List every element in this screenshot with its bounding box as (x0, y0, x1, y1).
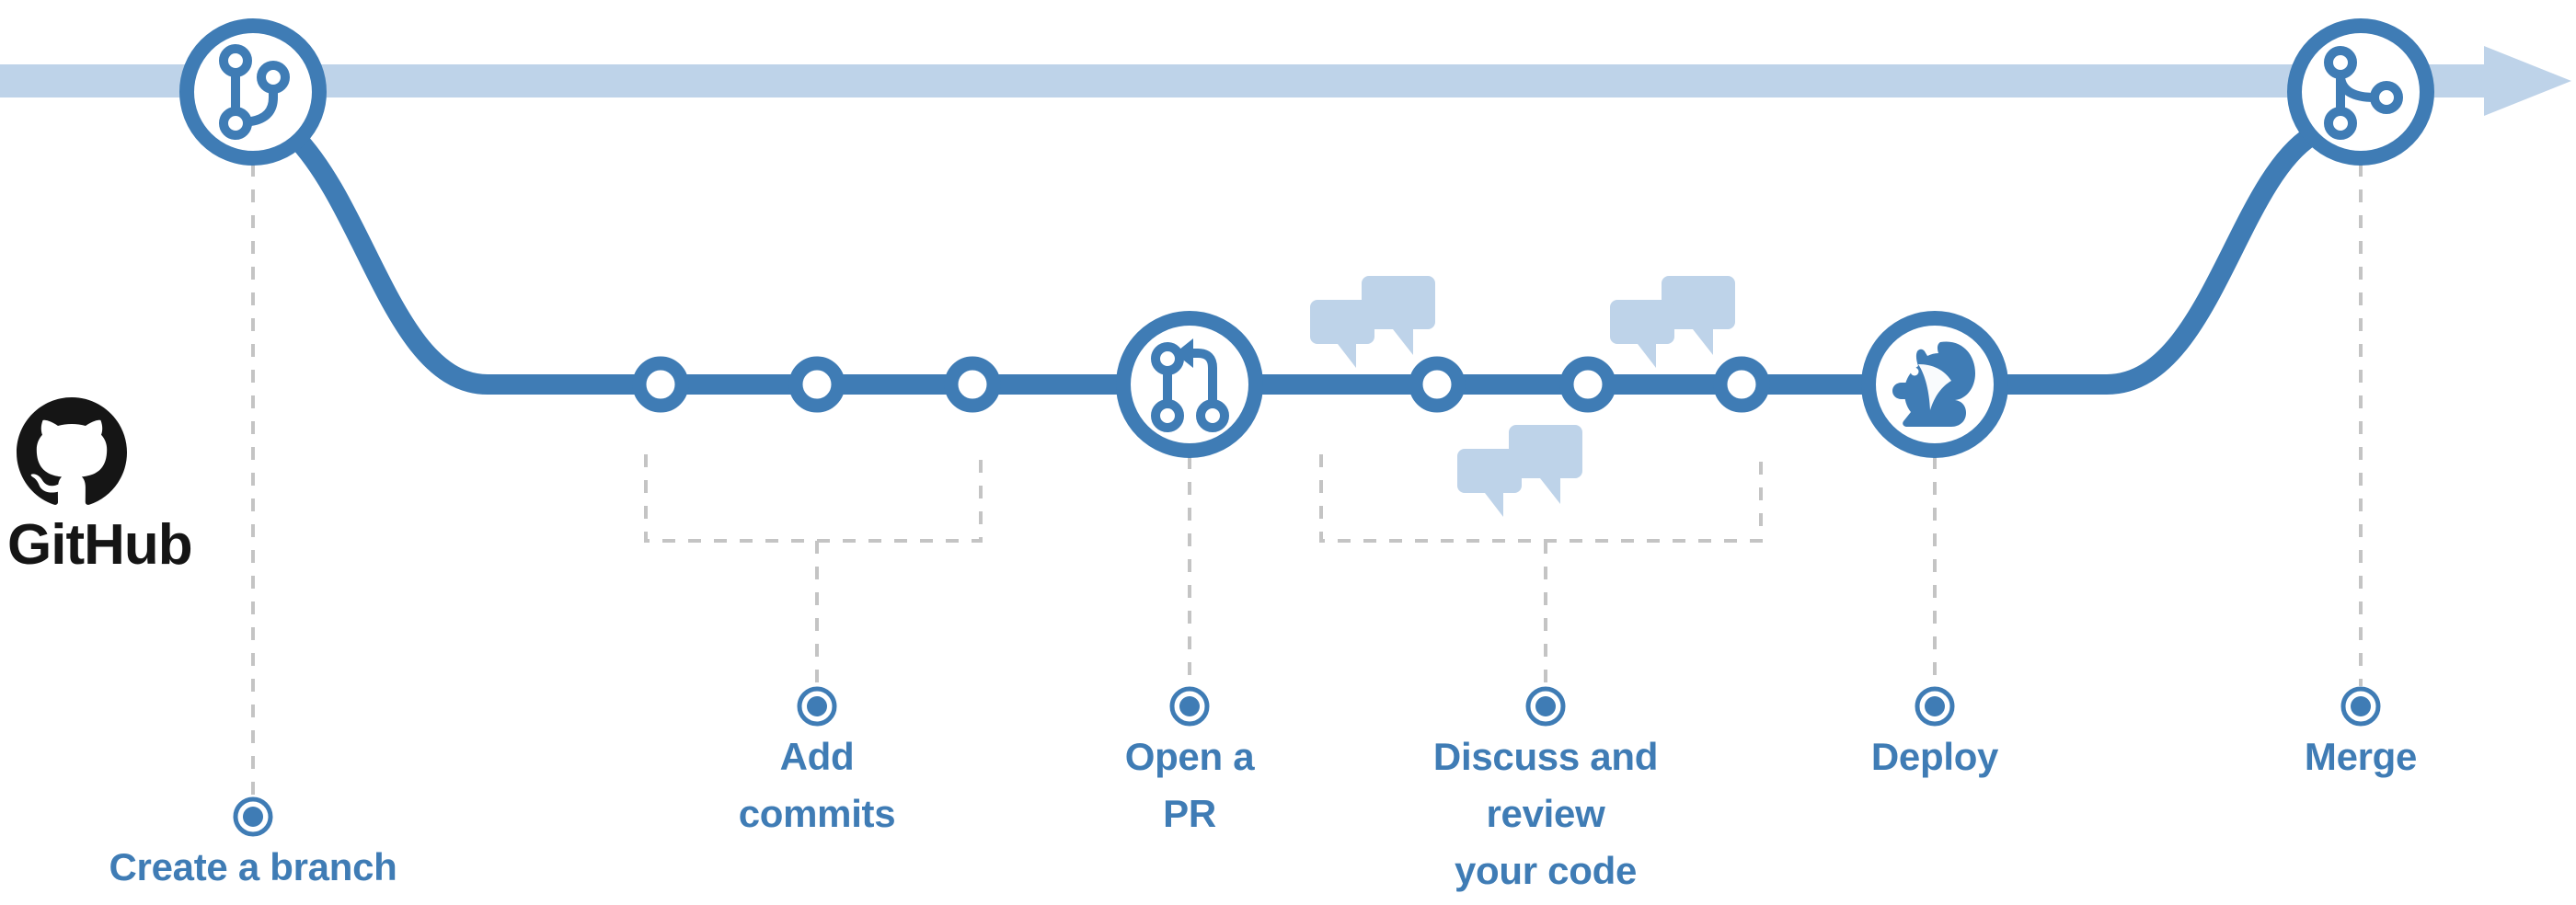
step-label-line: commits (739, 792, 896, 835)
step-label-create-branch: Create a branch (109, 839, 397, 896)
step-label-line: PR (1163, 792, 1216, 835)
comment-bubbles-icon (1310, 276, 1435, 368)
step-label-line: Discuss and (1433, 735, 1658, 778)
step-label-merge: Merge (2305, 728, 2417, 785)
feature-branch-path (294, 136, 2311, 384)
node-create-branch[interactable] (187, 26, 319, 158)
commit-dot-1[interactable] (639, 363, 682, 406)
github-octocat-icon (17, 397, 127, 505)
flow-graphic (0, 0, 2576, 905)
step-markers (236, 689, 2378, 834)
step-marker-create-branch[interactable] (236, 799, 270, 834)
step-label-line: your code (1455, 849, 1637, 892)
node-merge[interactable] (2294, 26, 2427, 158)
commit-dot-2[interactable] (796, 363, 838, 406)
github-wordmark: GitHub (7, 517, 192, 574)
step-label-line: Open a (1125, 735, 1255, 778)
step-marker-deploy[interactable] (1917, 689, 1952, 724)
commit-dot-6[interactable] (1720, 363, 1763, 406)
step-label-line: review (1487, 792, 1605, 835)
discuss-review-bracket (1321, 454, 1761, 686)
commit-dot-4[interactable] (1416, 363, 1458, 406)
step-marker-merge[interactable] (2343, 689, 2378, 724)
comment-bubbles-icon (1457, 425, 1582, 517)
step-label-add-commits: Addcommits (739, 728, 896, 842)
commit-dot-3[interactable] (951, 363, 994, 406)
dashed-connectors (253, 164, 2361, 796)
comment-bubbles-icon (1610, 276, 1735, 368)
commit-dot-5[interactable] (1567, 363, 1609, 406)
node-open-pr[interactable] (1123, 318, 1256, 451)
github-flow-diagram: GitHub Create a branch Addcommits Open a… (0, 0, 2576, 905)
step-label-discuss-review: Discuss andreviewyour code (1433, 728, 1658, 899)
step-marker-open-pr[interactable] (1172, 689, 1207, 724)
step-marker-discuss-review[interactable] (1528, 689, 1563, 724)
step-marker-add-commits[interactable] (799, 689, 834, 724)
step-label-line: Add (780, 735, 855, 778)
add-commits-bracket (646, 454, 981, 686)
step-label-deploy: Deploy (1871, 728, 1998, 785)
step-label-open-pr: Open aPR (1125, 728, 1255, 842)
node-deploy[interactable] (1869, 318, 2001, 451)
main-branch-arrow (0, 46, 2571, 116)
